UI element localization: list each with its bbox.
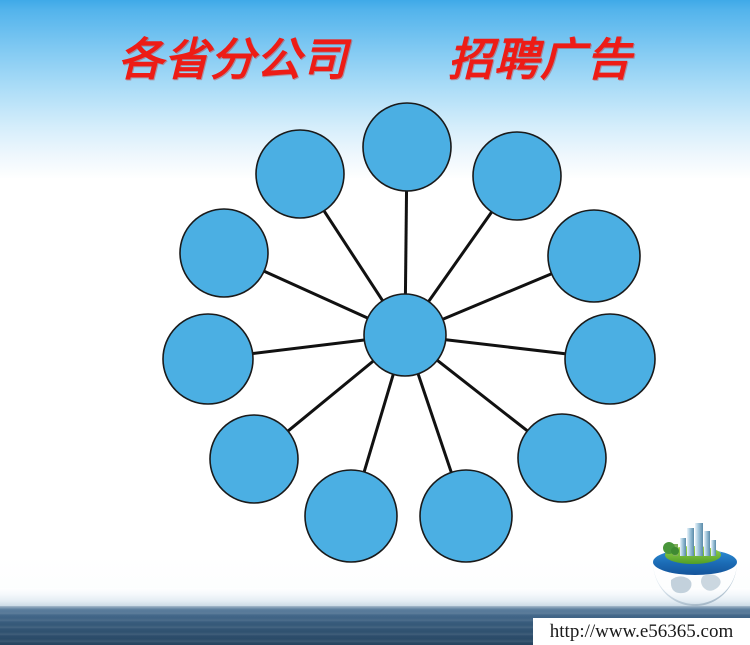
node-upper-left[interactable] bbox=[256, 130, 344, 218]
skyscraper-1 bbox=[687, 528, 694, 556]
spoke-node-top bbox=[405, 189, 406, 296]
node-lower-right[interactable] bbox=[518, 414, 606, 502]
watermark-box: http://www.e56365.com bbox=[533, 618, 750, 645]
spoke-node-lower-left bbox=[286, 360, 374, 433]
spoke-node-bottom-right bbox=[417, 372, 451, 474]
spoke-node-lower-right bbox=[436, 359, 529, 432]
node-left-lower[interactable] bbox=[163, 314, 253, 404]
page-title-text: 各省分公司 招聘广告 bbox=[118, 36, 632, 83]
spoke-node-bottom-left bbox=[364, 372, 394, 473]
node-upper-right[interactable] bbox=[473, 132, 561, 220]
node-bottom-left[interactable] bbox=[305, 470, 397, 562]
radial-hub-diagram bbox=[0, 0, 750, 645]
page-title: 各省分公司 招聘广告 bbox=[0, 36, 750, 83]
skyscraper-3 bbox=[704, 531, 710, 556]
skyscraper-5 bbox=[711, 540, 716, 556]
node-right-upper[interactable] bbox=[548, 210, 640, 302]
globe-continent-1 bbox=[671, 576, 692, 593]
hub-node[interactable] bbox=[364, 294, 446, 376]
tree-icon-2 bbox=[671, 547, 679, 555]
spoke-node-right-lower bbox=[444, 340, 568, 354]
node-lower-left[interactable] bbox=[210, 415, 298, 503]
spoke-node-left-lower bbox=[251, 340, 367, 354]
slide-canvas: 各省分公司 招聘广告 bbox=[0, 0, 750, 645]
node-top[interactable] bbox=[363, 103, 451, 191]
spoke-node-upper-right bbox=[427, 210, 492, 303]
globe-city-logo bbox=[645, 518, 745, 610]
node-left-upper[interactable] bbox=[180, 209, 268, 297]
spoke-node-left-upper bbox=[262, 270, 369, 319]
skyscraper-4 bbox=[680, 538, 686, 556]
spoke-node-right-upper bbox=[441, 273, 553, 320]
watermark-url: http://www.e56365.com bbox=[550, 621, 733, 643]
node-circles-group bbox=[163, 103, 655, 562]
skyscraper-2 bbox=[695, 523, 703, 556]
globe-continent-2 bbox=[701, 574, 721, 590]
spoke-node-upper-left bbox=[323, 209, 384, 302]
node-right-lower[interactable] bbox=[565, 314, 655, 404]
node-bottom-right[interactable] bbox=[420, 470, 512, 562]
